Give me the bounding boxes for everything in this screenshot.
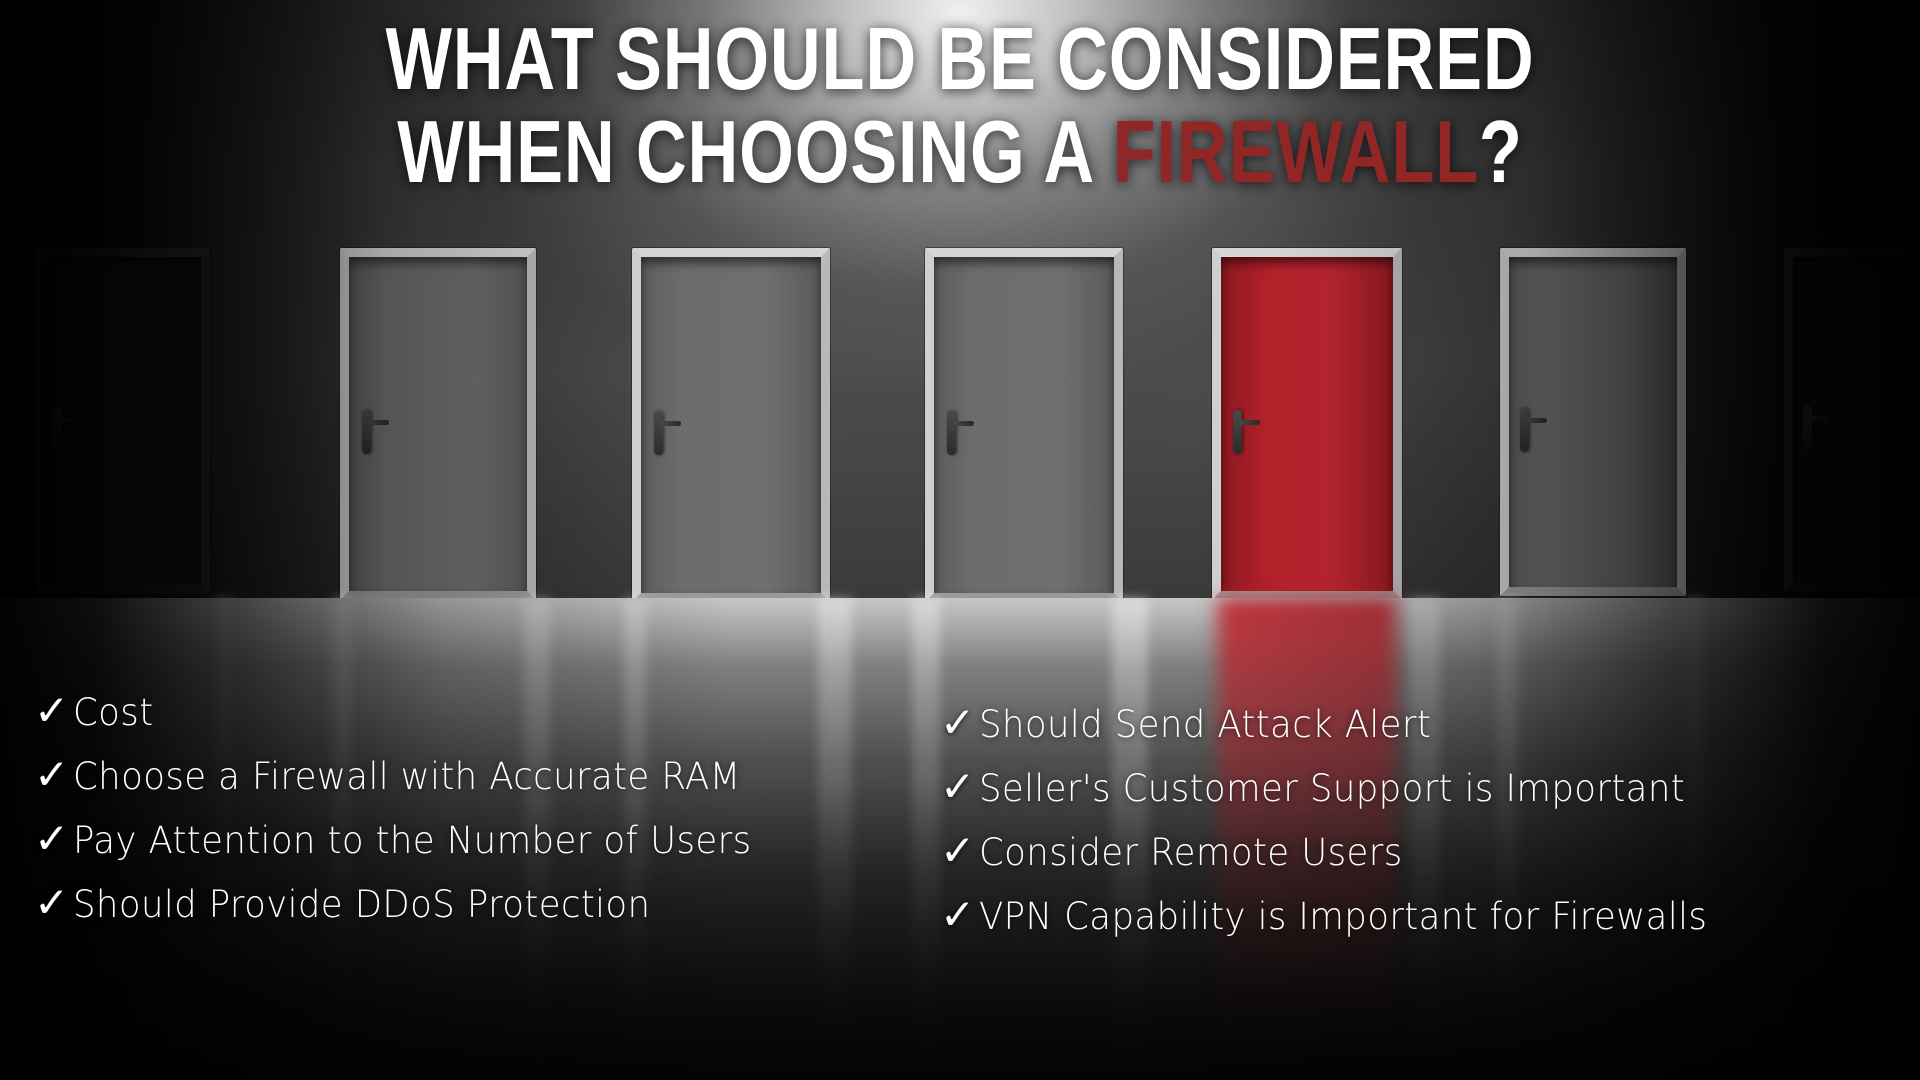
list-item: ✓ Should Send Attack Alert — [940, 702, 1738, 745]
check-icon: ✓ — [940, 894, 975, 936]
left-checklist: ✓ Cost ✓ Choose a Firewall with Accurate… — [34, 690, 780, 946]
list-item-label: Should Send Attack Alert — [979, 705, 1431, 745]
consideration-lists: ✓ Cost ✓ Choose a Firewall with Accurate… — [0, 0, 1920, 1080]
check-icon: ✓ — [34, 882, 69, 924]
list-item: ✓ Seller's Customer Support is Important — [940, 766, 1738, 809]
check-icon: ✓ — [34, 754, 69, 796]
list-item: ✓ Choose a Firewall with Accurate RAM — [34, 754, 780, 797]
list-item: ✓ VPN Capability is Important for Firewa… — [940, 894, 1738, 937]
firewall-infographic-poster: WHAT SHOULD BE CONSIDERED WHEN CHOOSING … — [0, 0, 1920, 1080]
right-checklist: ✓ Should Send Attack Alert ✓ Seller's Cu… — [940, 702, 1738, 958]
check-icon: ✓ — [940, 766, 975, 808]
list-item-label: Pay Attention to the Number of Users — [73, 821, 751, 861]
list-item: ✓ Pay Attention to the Number of Users — [34, 818, 780, 861]
list-item-label: Should Provide DDoS Protection — [73, 885, 650, 925]
check-icon: ✓ — [940, 702, 975, 744]
list-item-label: Cost — [73, 693, 154, 733]
list-item: ✓ Consider Remote Users — [940, 830, 1738, 873]
check-icon: ✓ — [34, 690, 69, 732]
check-icon: ✓ — [940, 830, 975, 872]
list-item-label: Consider Remote Users — [979, 833, 1403, 873]
list-item-label: Choose a Firewall with Accurate RAM — [73, 757, 741, 797]
check-icon: ✓ — [34, 818, 69, 860]
list-item: ✓ Cost — [34, 690, 780, 733]
list-item: ✓ Should Provide DDoS Protection — [34, 882, 780, 925]
list-item-label: VPN Capability is Important for Firewall… — [979, 897, 1707, 937]
list-item-label: Seller's Customer Support is Important — [979, 769, 1685, 809]
